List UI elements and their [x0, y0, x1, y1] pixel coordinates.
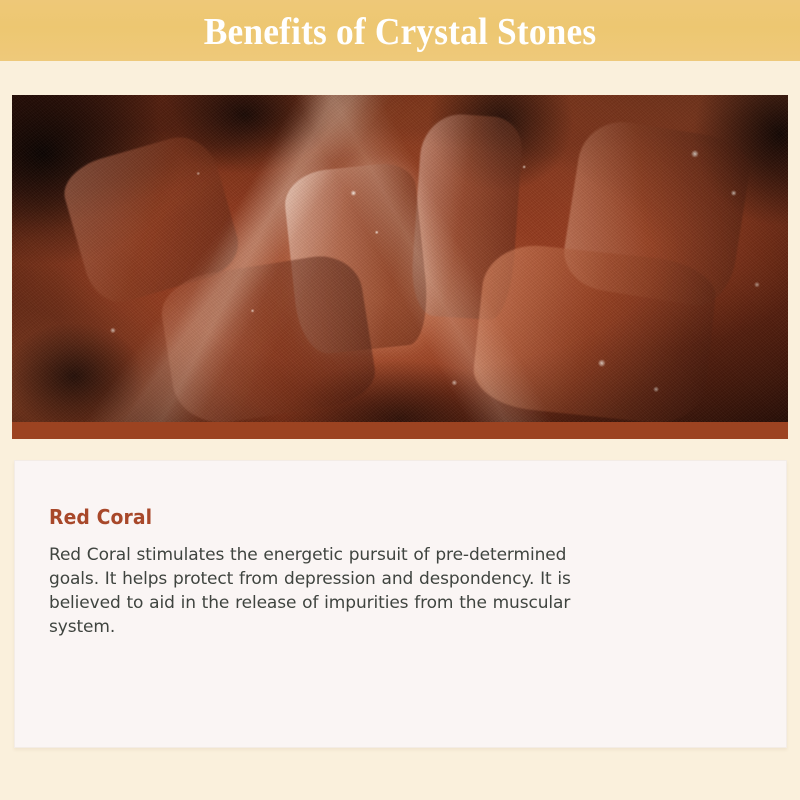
stone-info-card: Red Coral Red Coral stimulates the energ…	[14, 460, 787, 748]
crystal-photo-image	[12, 95, 788, 422]
accent-bar	[12, 422, 788, 439]
photo-layer-vignette	[12, 95, 788, 422]
page-root: Benefits of Crystal Stones Red Coral Red…	[0, 0, 800, 800]
stone-description: Red Coral stimulates the energetic pursu…	[49, 543, 619, 639]
crystal-photo	[12, 95, 788, 422]
page-title: Benefits of Crystal Stones	[204, 10, 597, 54]
stone-name-heading: Red Coral	[49, 505, 710, 529]
header-banner: Benefits of Crystal Stones	[0, 0, 800, 61]
